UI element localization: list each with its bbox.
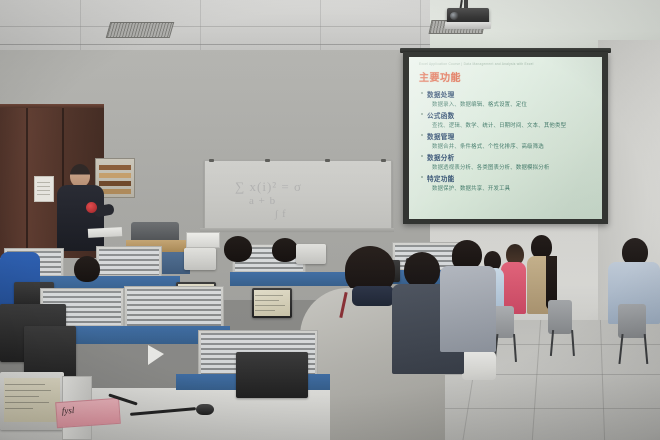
paper-flag — [148, 345, 164, 365]
whiteboard-tray — [200, 228, 394, 232]
instructor-head — [70, 164, 90, 187]
computer-monitor — [252, 288, 292, 318]
classroom-photo: ∑ x(i)² = σ a + b ∫ f Excel Application … — [0, 0, 660, 440]
slide-title: 主要功能 — [419, 69, 598, 84]
section-heading: 特定功能 — [421, 173, 598, 183]
projector-remote — [186, 232, 220, 248]
projector-base — [445, 22, 491, 29]
papers-stack — [88, 227, 122, 238]
section-items: 查找、逻辑、数学、统计、日期时间、文本、其他类型 — [432, 121, 598, 129]
section-heading: 数据管理 — [421, 131, 598, 141]
slide-section: 公式函数 查找、逻辑、数学、统计、日期时间、文本、其他类型 — [421, 110, 598, 129]
projector-lens — [450, 12, 459, 20]
section-heading: 数据处理 — [421, 89, 598, 99]
computer-monitor — [0, 372, 64, 430]
presentation-slide: Excel Application Course | Data Manageme… — [415, 60, 598, 215]
section-items: 数据录入、数据编辑、格式设置、定位 — [432, 100, 598, 108]
jacket-collar — [352, 286, 394, 306]
ceiling-grid-line — [200, 0, 201, 52]
label-text: fysl — [61, 405, 74, 416]
slide-section: 特定功能 数据保护、数据共享、开发工具 — [421, 173, 598, 192]
desk-label-sticker: fysl — [55, 398, 121, 428]
section-heading: 数据分析 — [421, 152, 598, 162]
paper-notice — [34, 176, 54, 202]
instructor-torso — [57, 185, 104, 251]
chair-backrest — [131, 222, 179, 242]
section-heading: 公式函数 — [421, 110, 598, 120]
ceiling-grid-line — [320, 0, 321, 52]
chair — [548, 300, 572, 334]
ceiling-vent — [106, 22, 175, 38]
chair — [618, 304, 646, 338]
computer-monitor — [296, 244, 326, 264]
projection-screen: Excel Application Course | Data Manageme… — [409, 57, 602, 219]
ceiling-grid-line — [80, 0, 81, 52]
section-items: 数据合并、条件格式、个性化排序、高级筛选 — [432, 142, 598, 150]
slide-header: Excel Application Course | Data Manageme… — [419, 62, 598, 66]
cabinet-door-seam — [26, 108, 28, 258]
slide-section: 数据管理 数据合并、条件格式、个性化排序、高级筛选 — [421, 131, 598, 150]
slide-section: 数据分析 数据透视表分析、各类图表分析、数据模拟分析 — [421, 152, 598, 171]
section-items: 数据透视表分析、各类图表分析、数据模拟分析 — [432, 163, 598, 171]
cubicle-partition — [124, 286, 224, 330]
computer-mouse — [196, 404, 214, 415]
chair-white — [462, 352, 496, 380]
whiteboard: ∑ x(i)² = σ a + b ∫ f — [204, 160, 392, 230]
computer-monitor — [236, 352, 308, 398]
ceiling-grid-line — [420, 0, 421, 52]
computer-monitor — [184, 248, 216, 270]
cubicle-partition — [96, 246, 162, 278]
shirt-logo — [86, 202, 97, 213]
slide-section: 数据处理 数据录入、数据编辑、格式设置、定位 — [421, 89, 598, 108]
section-items: 数据保护、数据共享、开发工具 — [432, 184, 598, 192]
